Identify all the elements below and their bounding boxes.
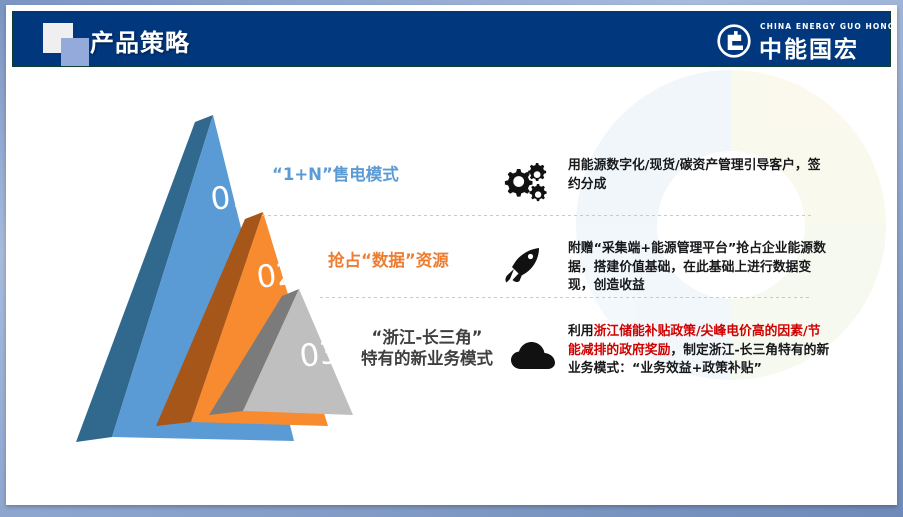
divider-2 xyxy=(320,297,811,298)
gears-icon xyxy=(501,160,549,204)
row-1-description: 用能源数字化/现货/碳资产管理引导客户，签约分成 xyxy=(568,157,833,194)
row-3-title-line-2: 特有的新业务模式 xyxy=(361,348,493,369)
level-03-number: 03 xyxy=(298,334,342,375)
row-3-title: “浙江-长三角” 特有的新业务模式 xyxy=(361,327,493,369)
level-03-side xyxy=(209,289,299,415)
level-01-number: 01 xyxy=(209,177,253,218)
pyramid-level-01 xyxy=(76,115,294,442)
row-3-desc-part-1: 利用 xyxy=(568,324,594,339)
row-1-title: “1+N”售电模式 xyxy=(272,164,399,185)
divider-1 xyxy=(262,215,811,216)
level-03-face xyxy=(243,289,353,415)
row-3-description: 利用浙江储能补贴政策/尖峰电价高的因素/节能减排的政府奖励，制定浙江-长三角特有… xyxy=(568,323,833,379)
row-3-title-line-1: “浙江-长三角” xyxy=(361,327,493,348)
logo-chinese-text: 中能国宏 xyxy=(759,30,859,64)
logo-circle-g-icon xyxy=(716,23,752,59)
company-logo: CHINA ENERGY GUO HONG 中能国宏 xyxy=(716,22,876,60)
row-1-desc-text: 用能源数字化/现货/碳资产管理引导客户，签约分成 xyxy=(568,158,821,192)
slide-frame: 产品策略 CHINA ENERGY GUO HONG 中能国宏 xyxy=(0,0,903,517)
slide-header: 产品策略 CHINA ENERGY GUO HONG 中能国宏 xyxy=(12,11,891,67)
page-title: 产品策略 xyxy=(90,23,190,58)
cloud-shape xyxy=(511,342,555,369)
row-2-description: 附赠“采集端+能源管理平台”抢占企业能源数据，搭建价值基础，在此基础上进行数据变… xyxy=(568,240,833,296)
pyramid-level-02 xyxy=(156,212,328,426)
row-3-desc-part-4: “业务效益+政策补贴” xyxy=(632,361,762,376)
cloud-icon xyxy=(511,342,555,372)
level-02-side xyxy=(156,212,263,426)
header-square-blue-icon xyxy=(61,38,89,66)
rocket-icon xyxy=(503,245,543,285)
level-01-face xyxy=(112,115,294,441)
level-02-face xyxy=(191,212,328,426)
row-2-desc-text: 附赠“采集端+能源管理平台”抢占企业能源数据，搭建价值基础，在此基础上进行数据变… xyxy=(568,241,826,293)
row-2-title: 抢占“数据”资源 xyxy=(328,250,449,271)
level-01-side xyxy=(76,115,213,442)
pyramid-level-03 xyxy=(209,289,353,415)
level-02-number: 02 xyxy=(255,255,299,296)
slide-canvas: 产品策略 CHINA ENERGY GUO HONG 中能国宏 xyxy=(6,5,897,505)
